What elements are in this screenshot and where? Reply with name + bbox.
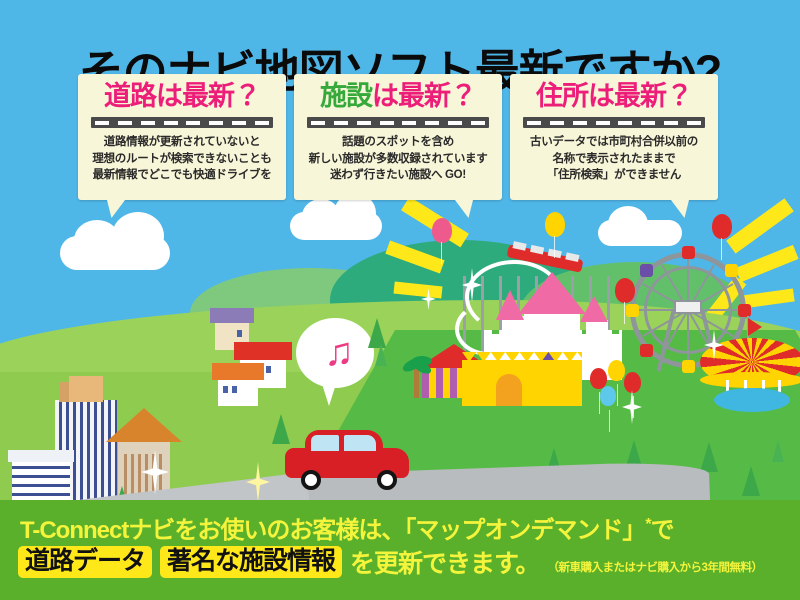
house-roof [234,342,292,360]
banner-footnote: （新車購入またはナビ購入から3年間無料） [548,559,763,580]
banner-line-1-text: ナビをお使いのお客様は、「マップオンデマンド」 [128,517,645,544]
callout-group: 道路は最新？ 道路情報が更新されていないと 理想のルートが検索できないことも 最… [0,74,800,204]
callout-body-line: 「住所検索」ができません [510,167,718,184]
callout-title-keyword: 住所 [536,81,588,111]
banner-update-text: を更新できます。 [350,544,540,580]
callout-title-keyword: 施設 [320,81,372,111]
banner-line-2: 道路データ 著名な施設情報 を更新できます。 （新車購入またはナビ購入から3年間… [18,544,762,580]
callout-body-line: 最新情報でどこでも快適ドライブを [78,167,286,184]
balloon-pink [432,218,452,243]
callout-tail [454,198,479,218]
callout-body: 話題のスポットを含め 新しい施設が多数収録されています 迷わず行きたい施設へ G… [294,134,502,184]
house-orange-roof [218,378,258,406]
callout-title-keyword: 道路 [104,81,156,111]
balloon-yellow [545,212,565,237]
brand-name: T-Connect [20,517,128,544]
train-car [530,245,544,255]
callout-body-line: 新しい施設が多数収録されています [294,151,502,168]
chip-road-data: 道路データ [18,546,152,579]
palm-tree [404,356,430,396]
callout-title-rest: は最新？ [372,81,476,111]
road-divider-icon [307,117,489,128]
tree [375,344,387,366]
tree [772,440,784,462]
balloon-red [712,214,732,239]
road-divider-icon [523,117,705,128]
callout-body-line: 話題のスポットを含め [294,134,502,151]
callout-title: 住所は最新？ [510,74,718,110]
house-roof [212,363,264,380]
balloon-blue [600,386,616,406]
castle-tower-right [586,320,608,348]
house-window [266,366,271,373]
house-window [223,386,228,393]
low-rise-roof [8,450,74,462]
carousel-flag [748,318,762,336]
pavilion-arch [496,374,522,406]
car-wheel-rear [377,470,397,490]
ferris-cabin [626,304,639,317]
ferris-cabin [682,246,695,259]
cloud-left [60,236,170,270]
park-pavilion [462,360,582,406]
ferris-cabin [682,360,695,373]
balloon-red [615,278,635,303]
carousel-floor [714,388,790,412]
red-car [285,430,409,486]
callout-body-line: 理想のルートが検索できないことも [78,151,286,168]
banner-line-1: T-Connectナビをお使いのお客様は、「マップオンデマンド」*で [20,510,674,545]
balloon-yellow [608,360,625,381]
banner-line-1-suffix: で [651,517,674,544]
castle-tower-left [502,316,524,346]
callout-facility: 施設は最新？ 話題のスポットを含め 新しい施設が多数収録されています 迷わず行き… [294,74,502,200]
house-window [237,330,242,337]
road-divider-icon [91,117,273,128]
callout-body: 古いデータでは市町村合併以前の 名称で表示されたままで 「住所検索」ができません [510,134,718,184]
callout-body-line: 名称で表示されたままで [510,151,718,168]
callout-road: 道路は最新？ 道路情報が更新されていないと 理想のルートが検索できないことも 最… [78,74,286,200]
callout-tail [670,198,695,218]
callout-address: 住所は最新？ 古いデータでは市町村合併以前の 名称で表示されたままで 「住所検索… [510,74,718,200]
bottom-banner: T-Connectナビをお使いのお客様は、「マップオンデマンド」*で 道路データ… [0,500,800,600]
cloud-right [598,220,682,246]
car-window-front [311,435,339,451]
bubble-tail [322,384,336,406]
ferris-cabin [725,264,738,277]
car-window-rear [344,435,376,451]
music-note-icon: ♫ [324,332,354,372]
house-window [232,386,237,393]
callout-title-rest: は最新？ [588,81,692,111]
balloon-red [624,372,641,393]
train-car [512,241,526,251]
chip-facility-info: 著名な施設情報 [160,546,342,579]
callout-body-line: 道路情報が更新されていないと [78,134,286,151]
music-note-bubble: ♫ [296,318,374,388]
tower-cap [69,376,103,402]
ferris-cabin [640,264,653,277]
tree [742,466,760,496]
cloud-center [290,212,382,240]
callout-body: 道路情報が更新されていないと 理想のルートが検索できないことも 最新情報でどこで… [78,134,286,184]
ferris-hub [674,300,702,314]
callout-title: 道路は最新？ [78,74,286,110]
ferris-cabin [640,344,653,357]
callout-title-rest: は最新？ [156,81,260,111]
castle-main-spire [518,272,586,314]
house-roof [210,308,254,323]
ferris-cabin [738,304,751,317]
train-car [565,252,579,262]
car-wheel-front [301,470,321,490]
tree [700,442,718,472]
temple-roof [106,408,182,442]
callout-body-line: 古いデータでは市町村合併以前の [510,134,718,151]
callout-title: 施設は最新？ [294,74,502,110]
poster-root: ♫ [0,0,800,600]
carousel-rim [700,372,800,388]
callout-body-line: 迷わず行きたい施設へ GO! [294,167,502,184]
